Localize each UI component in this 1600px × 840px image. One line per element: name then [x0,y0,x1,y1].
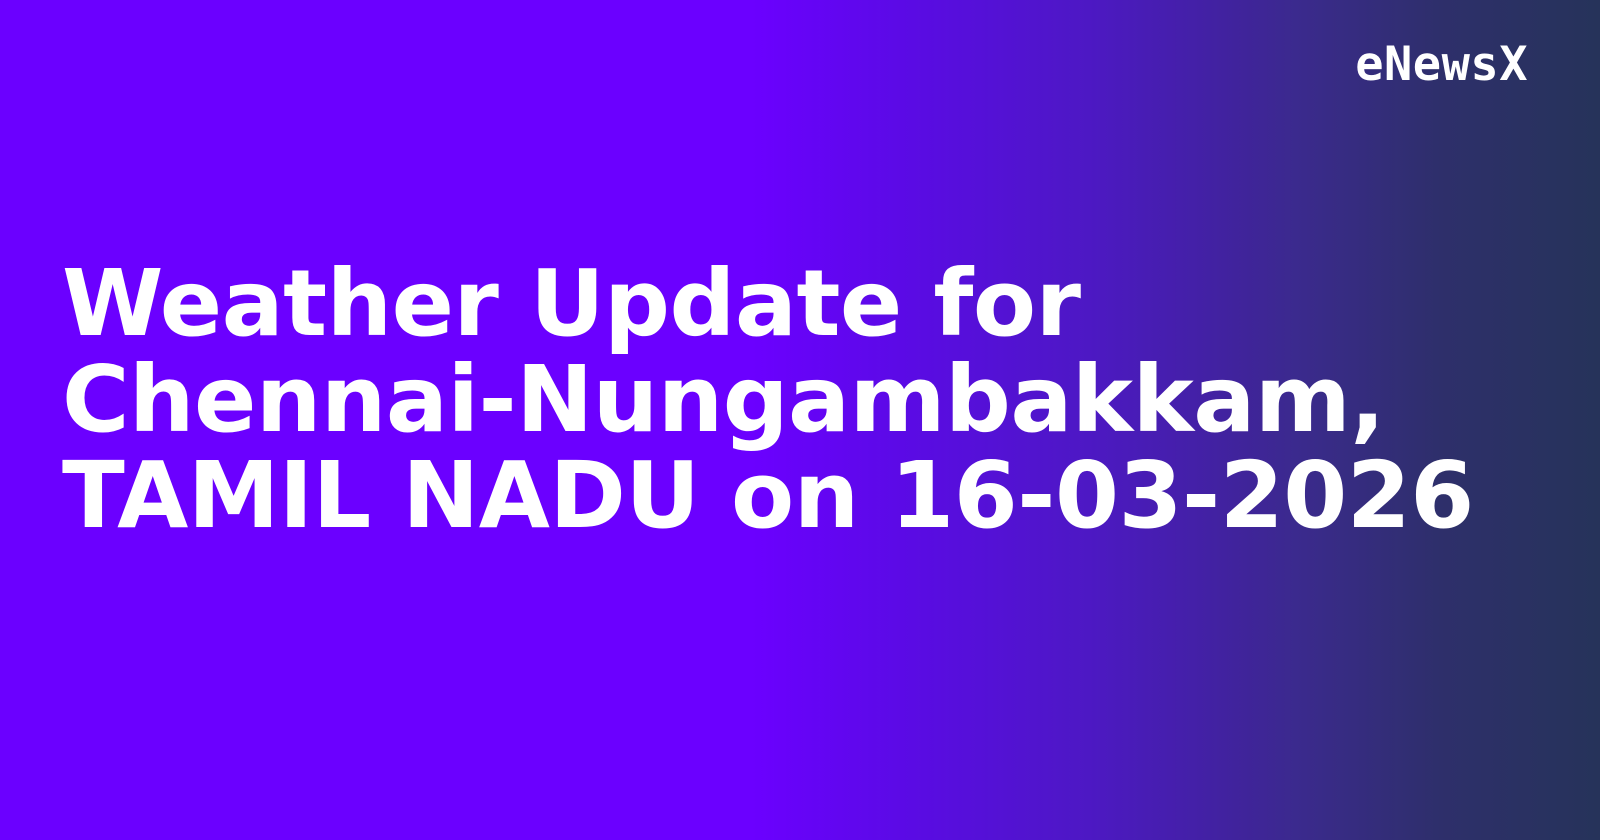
headline-line-3: TAMIL NADU on 16-03-2026 [62,448,1482,544]
headline-line-2: Chennai-Nungambakkam, [62,352,1482,448]
weather-update-card: eNewsX Weather Update for Chennai-Nungam… [0,0,1600,840]
headline-line-1: Weather Update for [62,256,1482,352]
headline-block: Weather Update for Chennai-Nungambakkam,… [62,256,1482,544]
enewsx-logo[interactable]: eNewsX [1355,41,1528,88]
brand-header: eNewsX [0,0,1528,128]
